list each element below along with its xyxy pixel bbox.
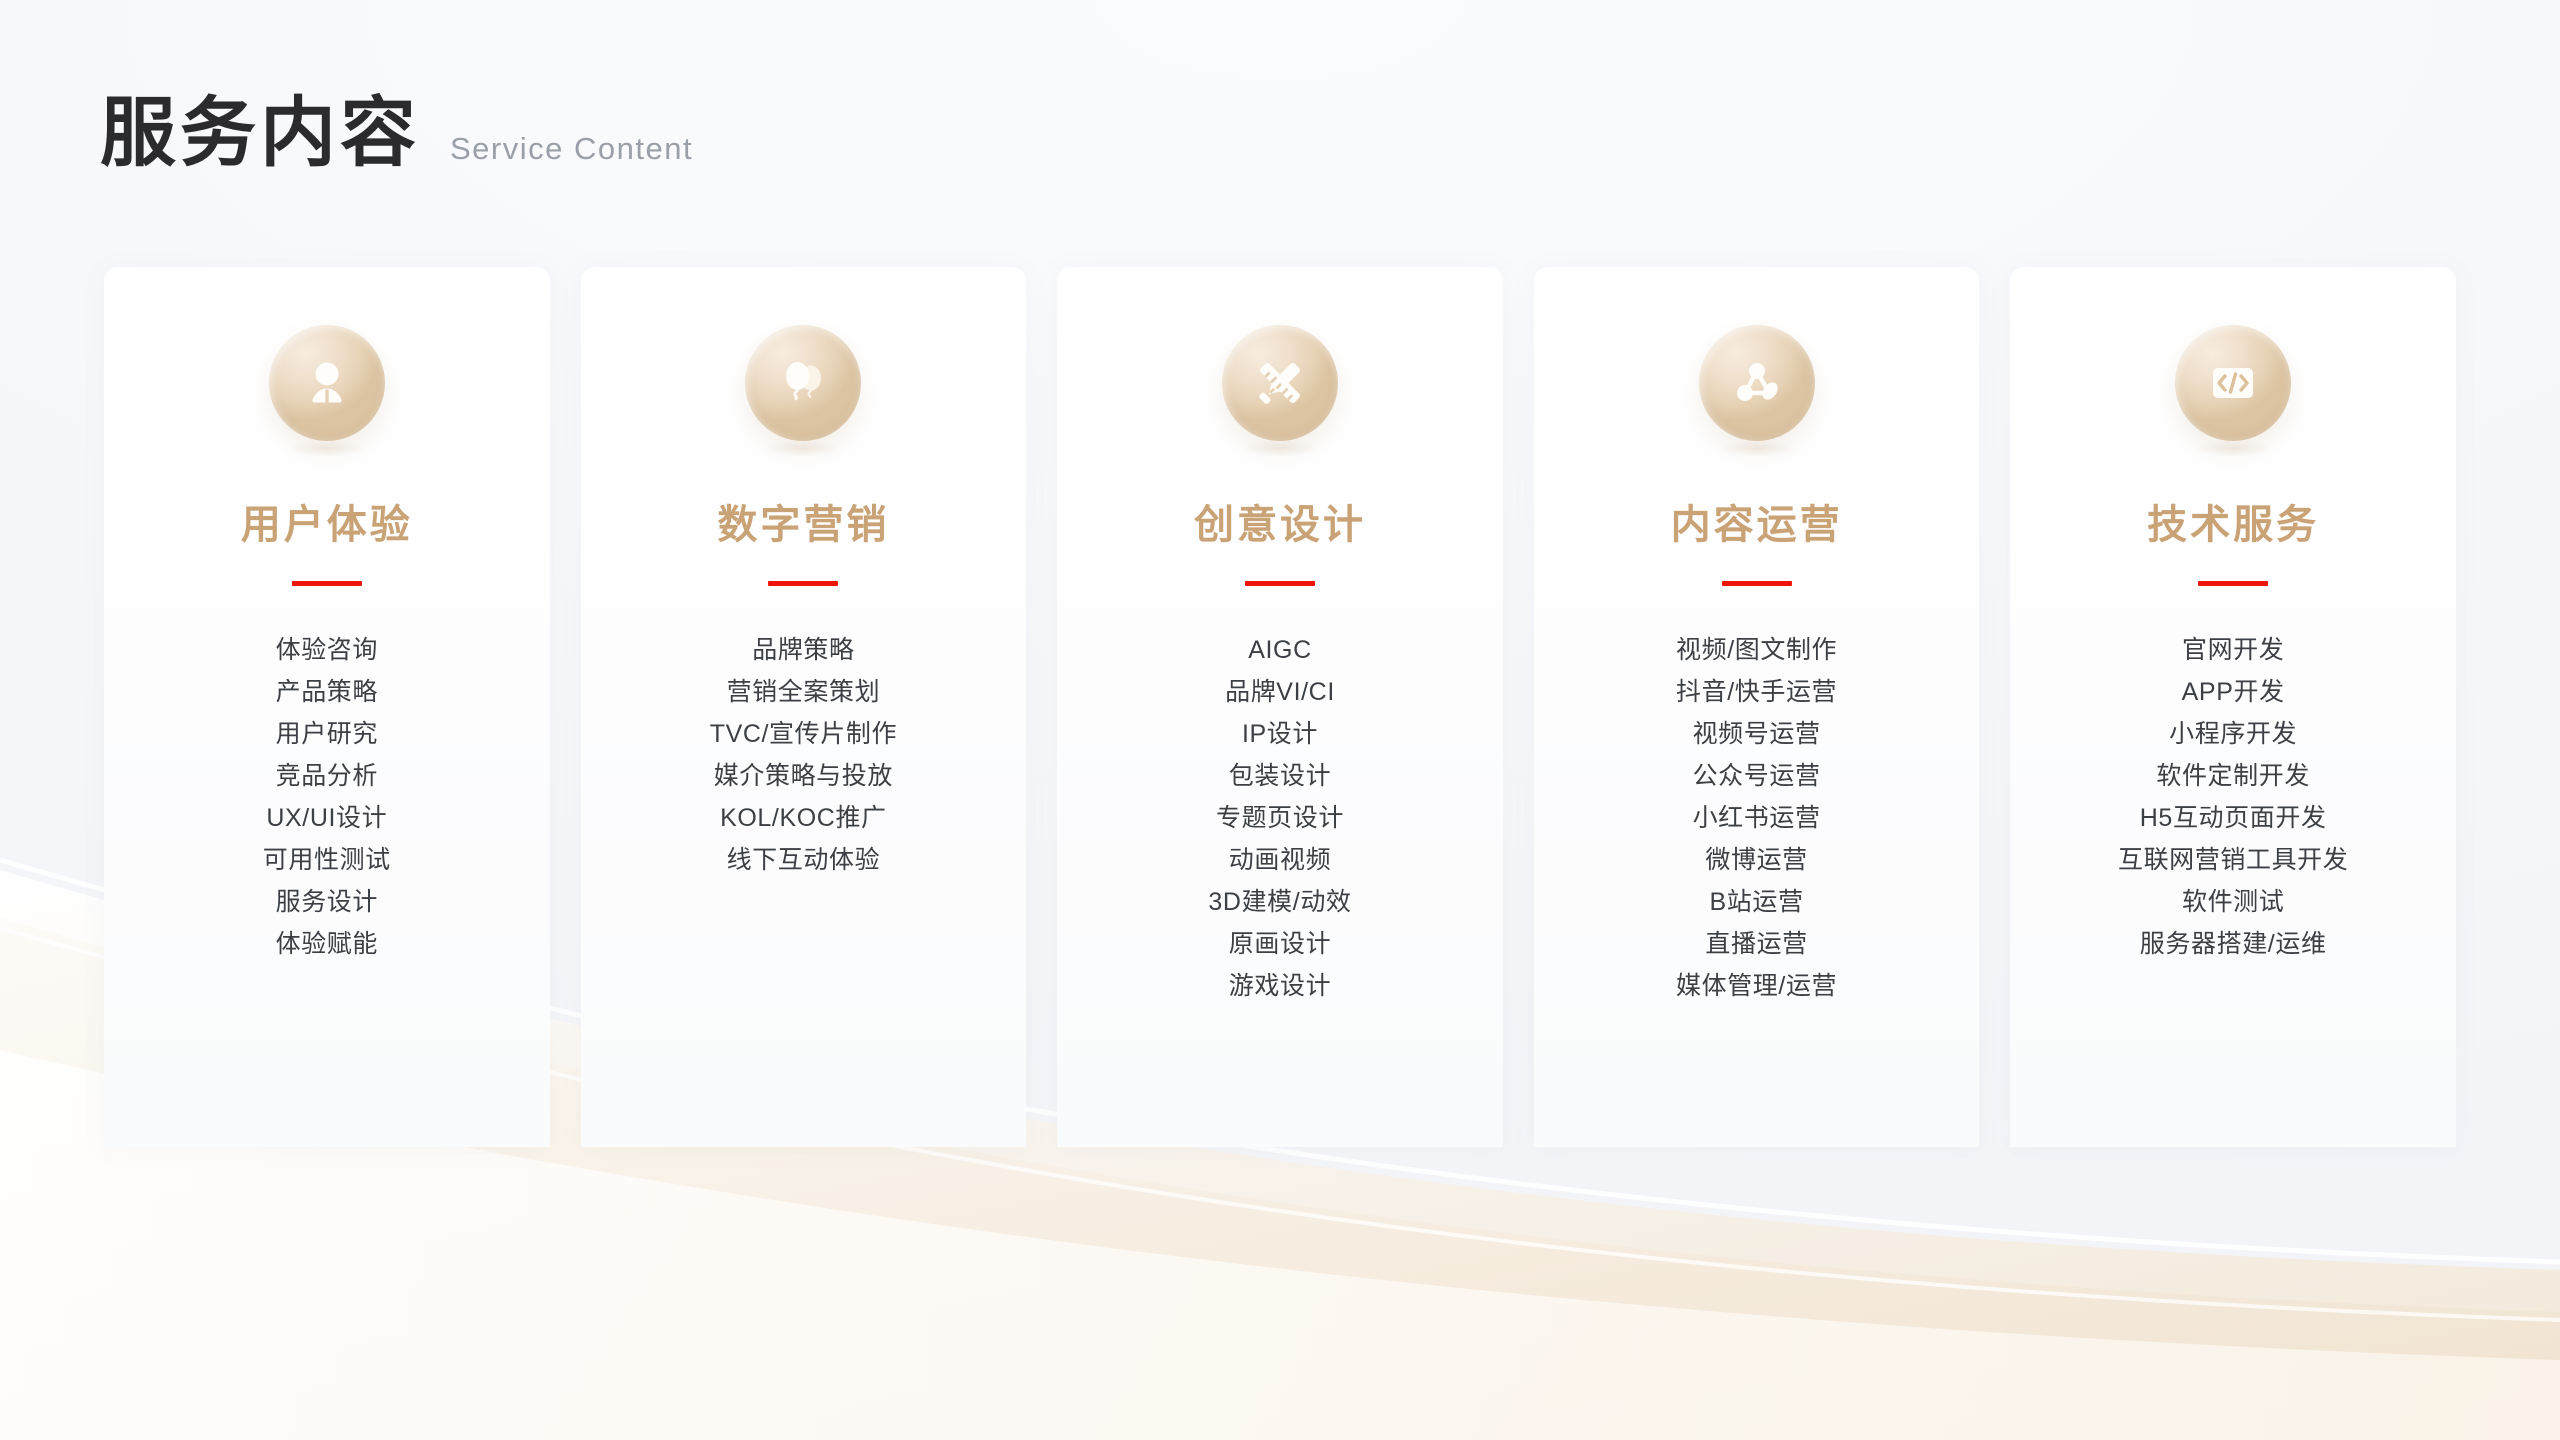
list-item[interactable]: 视频/图文制作: [1670, 630, 1843, 672]
icon-wrap: [2175, 325, 2291, 441]
icon-wrap: [1699, 325, 1815, 441]
card-title: 内容运营: [1671, 503, 1843, 547]
list-item[interactable]: UX/UI设计: [260, 798, 393, 840]
icon-wrap: [269, 325, 385, 441]
card-title: 用户体验: [241, 503, 413, 547]
service-item-list: 品牌策略 营销全案策划 TVC/宣传片制作 媒介策略与投放 KOL/KOC推广 …: [581, 630, 1027, 882]
list-item[interactable]: 品牌VI/CI: [1219, 672, 1341, 714]
list-item[interactable]: 软件定制开发: [2150, 756, 2316, 798]
card-title: 创意设计: [1194, 503, 1366, 547]
list-item[interactable]: 可用性测试: [257, 840, 397, 882]
service-item-list: 官网开发 APP开发 小程序开发 软件定制开发 H5互动页面开发 互联网营销工具…: [2010, 630, 2456, 966]
list-item[interactable]: 线下互动体验: [721, 840, 887, 882]
list-item[interactable]: 抖音/快手运营: [1670, 672, 1843, 714]
service-cards-row: 用户体验 体验咨询 产品策略 用户研究 竞品分析 UX/UI设计 可用性测试 服…: [104, 267, 2456, 1147]
list-item[interactable]: 服务设计: [270, 882, 384, 924]
balloons-icon: [745, 325, 861, 441]
list-item[interactable]: 体验咨询: [270, 630, 384, 672]
card-title: 数字营销: [717, 503, 889, 547]
list-item[interactable]: 体验赋能: [270, 924, 384, 966]
list-item[interactable]: 游戏设计: [1223, 966, 1337, 1008]
service-card-technical-service[interactable]: 技术服务 官网开发 APP开发 小程序开发 软件定制开发 H5互动页面开发 互联…: [2010, 267, 2456, 1147]
list-item[interactable]: 直播运营: [1699, 924, 1813, 966]
card-divider: [1722, 581, 1792, 586]
code-brackets-icon: [2175, 325, 2291, 441]
list-item[interactable]: TVC/宣传片制作: [704, 714, 903, 756]
list-item[interactable]: 视频号运营: [1687, 714, 1827, 756]
list-item[interactable]: 专题页设计: [1210, 798, 1350, 840]
list-item[interactable]: KOL/KOC推广: [714, 798, 893, 840]
icon-wrap: [1222, 325, 1338, 441]
card-divider: [2198, 581, 2268, 586]
service-card-user-experience[interactable]: 用户体验 体验咨询 产品策略 用户研究 竞品分析 UX/UI设计 可用性测试 服…: [104, 267, 550, 1147]
share-network-icon: [1699, 325, 1815, 441]
card-divider: [768, 581, 838, 586]
list-item[interactable]: 营销全案策划: [721, 672, 887, 714]
service-item-list: AIGC 品牌VI/CI IP设计 包装设计 专题页设计 动画视频 3D建模/动…: [1057, 630, 1503, 1008]
list-item[interactable]: 产品策略: [270, 672, 384, 714]
service-card-content-operation[interactable]: 内容运营 视频/图文制作 抖音/快手运营 视频号运营 公众号运营 小红书运营 微…: [1534, 267, 1980, 1147]
page-title: 服务内容: [100, 96, 420, 172]
page-header: 服务内容 Service Content: [100, 96, 693, 172]
service-card-digital-marketing[interactable]: 数字营销 品牌策略 营销全案策划 TVC/宣传片制作 媒介策略与投放 KOL/K…: [581, 267, 1027, 1147]
list-item[interactable]: 用户研究: [270, 714, 384, 756]
list-item[interactable]: 软件测试: [2176, 882, 2290, 924]
list-item[interactable]: 媒介策略与投放: [708, 756, 899, 798]
service-item-list: 体验咨询 产品策略 用户研究 竞品分析 UX/UI设计 可用性测试 服务设计 体…: [104, 630, 550, 966]
list-item[interactable]: 小程序开发: [2163, 714, 2303, 756]
list-item[interactable]: 3D建模/动效: [1202, 882, 1357, 924]
list-item[interactable]: 微博运营: [1699, 840, 1813, 882]
list-item[interactable]: B站运营: [1704, 882, 1810, 924]
list-item[interactable]: H5互动页面开发: [2134, 798, 2333, 840]
service-card-creative-design[interactable]: 创意设计 AIGC 品牌VI/CI IP设计 包装设计 专题页设计 动画视频 3…: [1057, 267, 1503, 1147]
pencil-ruler-icon: [1222, 325, 1338, 441]
list-item[interactable]: 公众号运营: [1687, 756, 1827, 798]
card-divider: [292, 581, 362, 586]
list-item[interactable]: 媒体管理/运营: [1670, 966, 1843, 1008]
list-item[interactable]: 官网开发: [2176, 630, 2290, 672]
card-title: 技术服务: [2147, 503, 2319, 547]
list-item[interactable]: IP设计: [1236, 714, 1324, 756]
list-item[interactable]: 小红书运营: [1687, 798, 1827, 840]
list-item[interactable]: 品牌策略: [746, 630, 860, 672]
list-item[interactable]: AIGC: [1242, 630, 1318, 672]
list-item[interactable]: 服务器搭建/运维: [2134, 924, 2333, 966]
card-divider: [1245, 581, 1315, 586]
service-item-list: 视频/图文制作 抖音/快手运营 视频号运营 公众号运营 小红书运营 微博运营 B…: [1534, 630, 1980, 1008]
user-icon: [269, 325, 385, 441]
list-item[interactable]: 动画视频: [1223, 840, 1337, 882]
icon-wrap: [745, 325, 861, 441]
list-item[interactable]: APP开发: [2176, 672, 2291, 714]
list-item[interactable]: 包装设计: [1223, 756, 1337, 798]
list-item[interactable]: 互联网营销工具开发: [2112, 840, 2354, 882]
page-subtitle: Service Content: [450, 133, 693, 172]
list-item[interactable]: 竞品分析: [270, 756, 384, 798]
list-item[interactable]: 原画设计: [1223, 924, 1337, 966]
